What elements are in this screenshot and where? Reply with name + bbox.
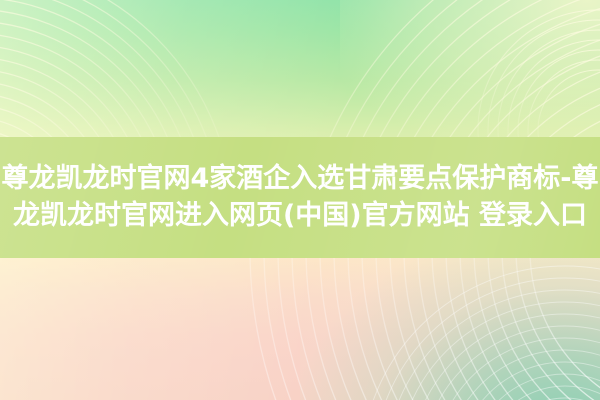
headline-band: 尊龙凯龙时官网4家酒企入选甘肃要点保护商标-尊 龙凯龙时官网进入网页(中国)官方… (0, 137, 600, 258)
background-top-right-glow (340, 0, 600, 150)
banner-image: 尊龙凯龙时官网4家酒企入选甘肃要点保护商标-尊 龙凯龙时官网进入网页(中国)官方… (0, 0, 600, 400)
headline-line-1: 尊龙凯龙时官网4家酒企入选甘肃要点保护商标-尊 (2, 161, 599, 198)
headline-line-2: 龙凯龙时官网进入网页(中国)官方网站 登录入口 (13, 198, 587, 235)
